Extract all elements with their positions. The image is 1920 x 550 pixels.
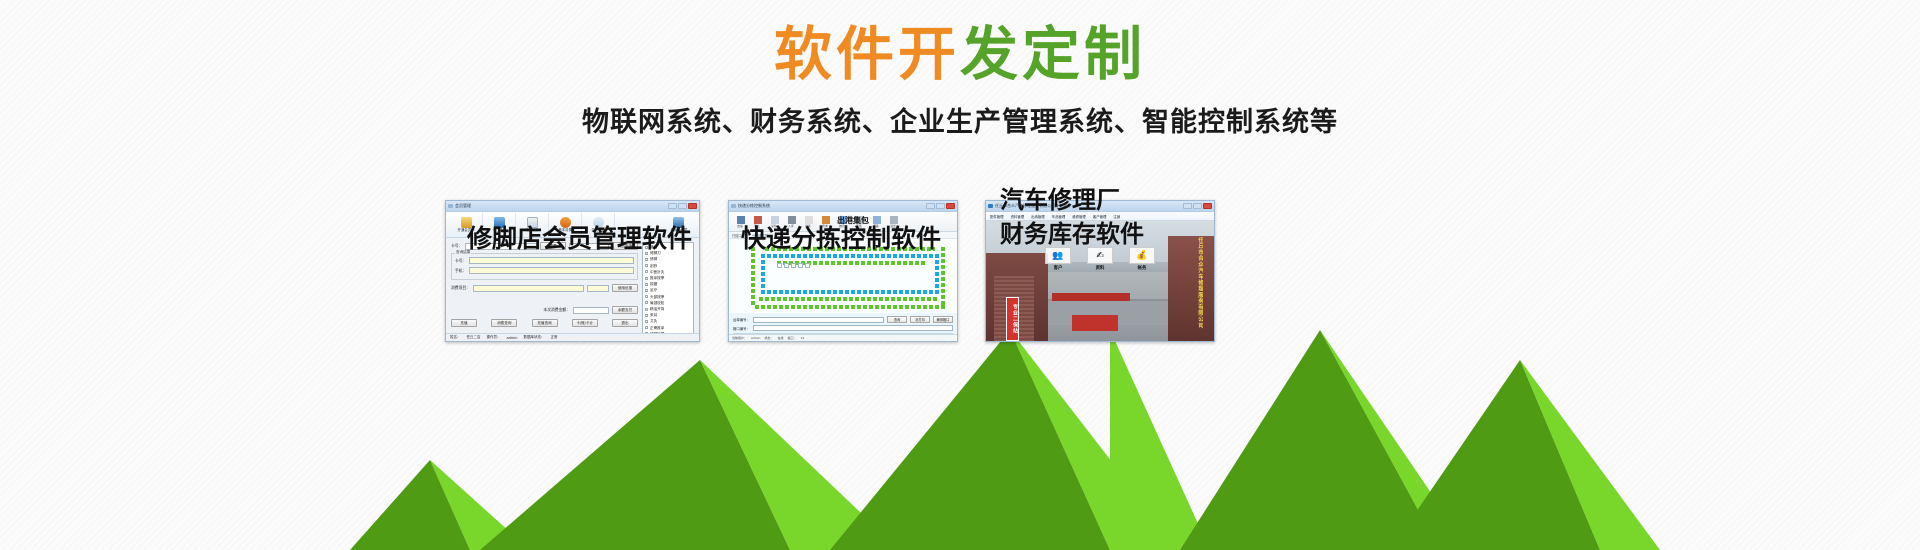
money-icon[interactable]: 💰 — [1129, 247, 1155, 264]
storefront-banner — [1072, 315, 1118, 331]
consume-item-row: 消费项目： 使用优惠 — [451, 284, 638, 292]
field-label: 运单编号： — [733, 317, 750, 322]
status-label-name: 姓名： — [450, 335, 461, 340]
green-track-left — [751, 247, 755, 305]
card-row: 卡号： — [455, 257, 634, 264]
reprint-button[interactable]: 补打印 — [910, 316, 930, 323]
waybill-input[interactable] — [753, 317, 884, 323]
green-track-bottom — [759, 297, 939, 301]
minimize-icon[interactable] — [926, 203, 935, 209]
maximize-icon[interactable] — [1193, 203, 1202, 209]
unbind-button[interactable]: 解绑格口 — [933, 316, 953, 323]
window-controls[interactable] — [1183, 203, 1212, 209]
chute-slots[interactable] — [777, 263, 810, 268]
checkbox-icon[interactable] — [645, 308, 648, 311]
status-value-chute: 12 — [800, 336, 804, 340]
tile-label: 客户 — [1054, 265, 1063, 271]
service-item-list[interactable]: 精油 修脚刀 修脚 刮痧 中医针灸 推拿按摩 拔罐 足疗 头部按摩 肩颈放松 精… — [642, 242, 694, 342]
status-value-state: 在线 — [777, 336, 783, 340]
chute-slot[interactable] — [805, 263, 810, 268]
status-label-user: 当前用户： — [732, 336, 747, 340]
caption-auto-repair-line2: 财务库存软件 — [1000, 214, 1144, 249]
storefront-sign — [1052, 293, 1130, 301]
window-controls[interactable] — [926, 203, 955, 209]
amount-input[interactable] — [573, 307, 609, 314]
page-subtitle: 物联网系统、财务系统、企业生产管理系统、智能控制系统等 — [0, 100, 1920, 139]
tile-label: 资料 — [1096, 265, 1105, 271]
mountain-shapes — [0, 320, 1920, 550]
caption-express-sorting: 快递分拣控制软件 — [741, 219, 941, 255]
maximize-icon[interactable] — [678, 203, 687, 209]
minimize-icon[interactable] — [668, 203, 677, 209]
amount-row: 本次消费金额： 余额支付 — [451, 306, 638, 314]
balance-pay-button[interactable]: 余额支付 — [612, 306, 638, 314]
chute-slot[interactable] — [798, 263, 803, 268]
recharge-query-button[interactable]: 充值查询 — [532, 319, 558, 327]
consume-item-input[interactable] — [473, 285, 584, 292]
tile-customers[interactable]: 👥 客户 — [1044, 247, 1072, 271]
page-title: 软件开发定制 — [0, 24, 1920, 85]
caption-member-management: 修脚店会员管理软件 — [467, 219, 692, 255]
close-icon[interactable] — [1203, 203, 1212, 209]
query-result-group: 查询结果 卡号： 手机： — [451, 253, 638, 280]
app-icon — [988, 204, 993, 208]
checkbox-icon[interactable] — [645, 314, 648, 317]
status-label-chute: 格口： — [787, 336, 796, 340]
status-label-operator: 操作员： — [487, 335, 501, 340]
action-button-row[interactable]: 充值 消费查询 充值查询 卡/账/卡计 退出 — [451, 319, 638, 327]
app-icon — [448, 204, 453, 208]
checkbox-icon[interactable] — [645, 264, 648, 267]
checkbox-icon[interactable] — [645, 301, 648, 304]
status-value-store: 任丘二店 — [467, 335, 481, 340]
card-account-button[interactable]: 卡/账/卡计 — [572, 319, 598, 327]
exit-button[interactable]: 退出 — [612, 319, 638, 327]
status-label-db: 数据库状态： — [523, 335, 544, 340]
blue-conveyor-left — [761, 254, 765, 294]
titlebar: 会员管理 — [446, 201, 699, 212]
red-plate-sign: 专业二保站 — [1006, 297, 1019, 341]
caption-auto-repair-line1: 汽车修理厂 — [1000, 180, 1120, 215]
vertical-company-sign: 任丘市合众汽车修理服务有限公司 — [1190, 225, 1203, 341]
chute-slot[interactable] — [784, 263, 789, 268]
checkbox-icon[interactable] — [645, 270, 648, 273]
documents-icon[interactable]: ✍ — [1087, 247, 1113, 264]
phone-row: 手机： — [455, 267, 634, 274]
use-discount-button[interactable]: 使用优惠 — [612, 284, 638, 292]
customers-icon[interactable]: 👥 — [1045, 247, 1071, 264]
checkbox-icon[interactable] — [645, 295, 648, 298]
status-value-operator: admin — [507, 336, 518, 340]
green-track-bottom2 — [755, 305, 947, 309]
green-track-right — [941, 247, 945, 305]
checkbox-icon[interactable] — [645, 258, 648, 261]
window-controls[interactable] — [668, 203, 697, 209]
window-title: 快递分拣控制系统 — [738, 203, 924, 209]
status-value-user: admin — [751, 336, 760, 340]
headline-green-part: 发定制 — [960, 20, 1146, 88]
close-icon[interactable] — [946, 203, 955, 209]
status-bar: 姓名： 任丘二店 操作员： admin 数据库状态： 正常 — [446, 333, 699, 341]
checkbox-icon[interactable] — [645, 277, 648, 280]
maximize-icon[interactable] — [936, 203, 945, 209]
window-title: 会员管理 — [455, 203, 666, 209]
blue-conveyor-right — [935, 254, 939, 294]
checkbox-icon[interactable] — [645, 320, 648, 323]
titlebar: 快递分拣控制系统 — [729, 201, 957, 212]
app-icon — [731, 204, 736, 208]
phone-input[interactable] — [469, 267, 634, 274]
banner-stage: 软件开发定制 物联网系统、财务系统、企业生产管理系统、智能控制系统等 会员管理 … — [0, 0, 1920, 550]
field-label: 卡号： — [455, 258, 466, 264]
recharge-action-button[interactable]: 充值 — [451, 319, 477, 327]
checkbox-icon[interactable] — [645, 289, 648, 292]
headline-orange-part: 软件开 — [774, 20, 960, 88]
tile-label: 帐务 — [1138, 265, 1147, 271]
waybill-row: 运单编号： 查询 补打印 解绑格口 — [733, 316, 953, 323]
checkbox-icon[interactable] — [645, 283, 648, 286]
blue-conveyor-bottom — [761, 290, 939, 294]
status-bar: 当前用户： admin 状态： 在线 格口： 12 — [729, 334, 957, 341]
status-value-db: 正常 — [550, 335, 557, 340]
form-area: 卡号： 重置 商品充值 查询结果 卡号： 手机： — [451, 242, 638, 342]
chute-input[interactable] — [753, 325, 953, 331]
chute-slot[interactable] — [791, 263, 796, 268]
consume-qty-input[interactable] — [587, 285, 609, 292]
card-value-input[interactable] — [469, 257, 634, 264]
checkbox-icon[interactable] — [645, 326, 648, 329]
close-icon[interactable] — [688, 203, 697, 209]
shortcut-tiles[interactable]: 👥 客户 ✍ 资料 💰 帐务 — [1044, 247, 1156, 271]
field-label: 手机： — [455, 268, 466, 274]
field-label: 格口编号： — [733, 326, 750, 331]
consume-query-button[interactable]: 消费查询 — [491, 319, 517, 327]
amount-label: 本次消费金额： — [543, 307, 570, 313]
status-label-state: 状态： — [764, 336, 773, 340]
chute-slot[interactable] — [777, 263, 782, 268]
query-button[interactable]: 查询 — [887, 316, 907, 323]
tile-accounts[interactable]: 💰 帐务 — [1128, 247, 1156, 271]
field-label: 卡号： — [451, 243, 462, 249]
field-label: 消费项目： — [451, 285, 470, 291]
mountain-decoration — [0, 320, 1920, 550]
tile-documents[interactable]: ✍ 资料 — [1086, 247, 1114, 271]
chute-row: 格口编号： — [733, 325, 953, 331]
minimize-icon[interactable] — [1183, 203, 1192, 209]
